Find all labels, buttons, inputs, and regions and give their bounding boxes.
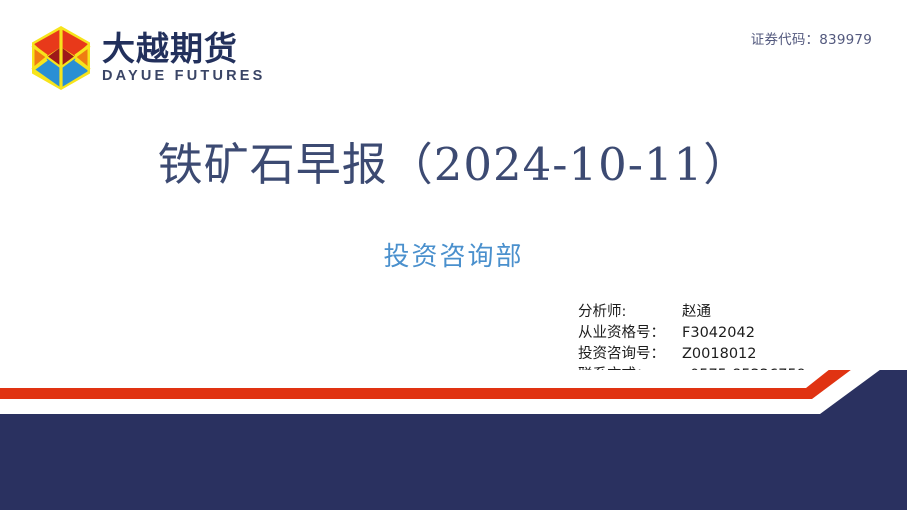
company-logo: 大越期货 DAYUE FUTURES — [30, 24, 266, 92]
hexagon-cube-logo-icon — [30, 25, 92, 91]
analyst-row: 分析师: 赵通 — [578, 302, 806, 323]
analyst-row: 从业资格号： F3042042 — [578, 323, 806, 344]
page-subtitle: 投资咨询部 — [0, 236, 907, 273]
logo-wordmark: 大越期货 DAYUE FUTURES — [102, 31, 266, 85]
securities-code: 证券代码：839979 — [751, 28, 872, 48]
analyst-name-value: 赵通 — [682, 302, 711, 323]
bottom-decoration-banner — [0, 370, 907, 510]
logo-chinese-name: 大越期货 — [102, 31, 266, 67]
qualification-number-label: 从业资格号： — [578, 323, 682, 344]
qualification-number-value: F3042042 — [682, 323, 755, 344]
analyst-row: 投资咨询号： Z0018012 — [578, 344, 806, 365]
consulting-number-label: 投资咨询号： — [578, 344, 682, 365]
consulting-number-value: Z0018012 — [682, 344, 757, 365]
page-title: 铁矿石早报（2024-10-11） — [0, 128, 907, 193]
logo-english-name: DAYUE FUTURES — [102, 69, 266, 85]
analyst-name-label: 分析师: — [578, 302, 682, 323]
report-cover-slide: 大越期货 DAYUE FUTURES 证券代码：839979 铁矿石早报（202… — [0, 0, 907, 510]
